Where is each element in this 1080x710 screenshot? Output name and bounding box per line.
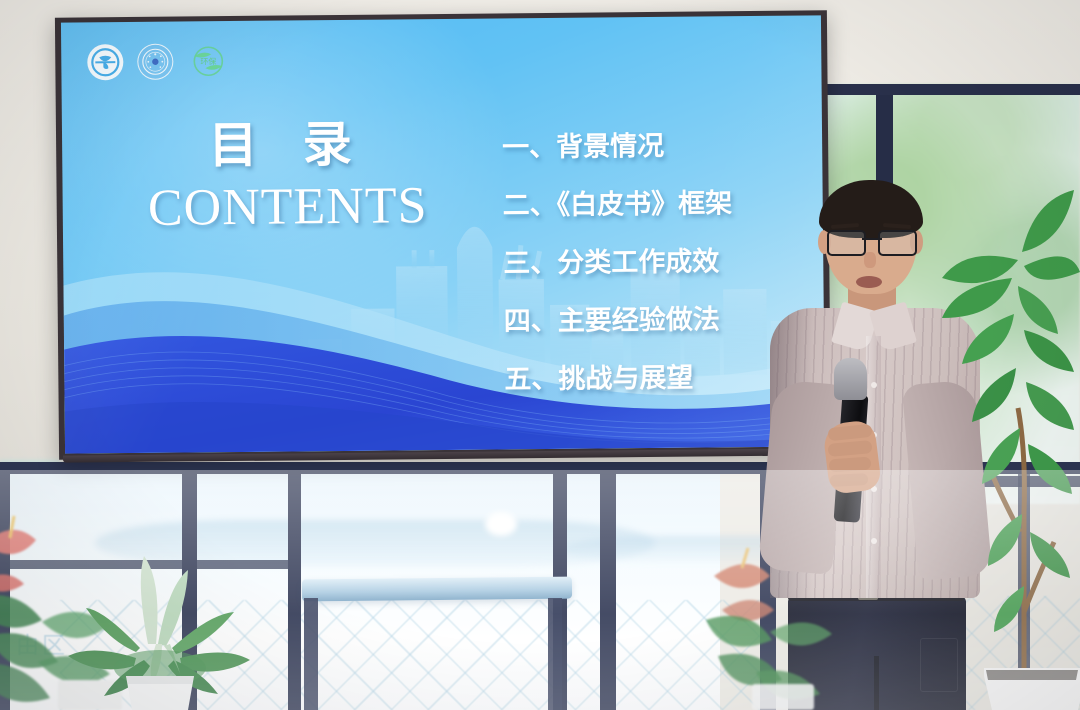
presenter-trouser-seam xyxy=(874,656,879,710)
glasses-bridge xyxy=(862,238,882,240)
slide-title-cn: 目 录 xyxy=(122,119,452,171)
window-frame-horizontal-right-top xyxy=(826,84,1080,95)
svg-text:环保: 环保 xyxy=(200,56,216,66)
sun-glare xyxy=(485,512,517,536)
presenter-mouth xyxy=(856,276,882,288)
sp-circular-logo: SP xyxy=(87,44,123,80)
ledge-leg-right xyxy=(548,598,562,710)
contents-item-4: 四、主要经验做法 xyxy=(504,306,734,335)
eco-green-logo: 环保 环保 xyxy=(187,44,229,78)
presenter-shirt-button-4 xyxy=(871,538,877,544)
contents-item-3: 三、分类工作成效 xyxy=(503,248,733,277)
wall-display[interactable]: SP ★ xyxy=(55,10,831,459)
window-frame-vertical-2 xyxy=(288,470,301,710)
contents-item-5: 五、挑战与展望 xyxy=(504,364,734,393)
window-ledge-shelf xyxy=(302,577,572,602)
presenter-glasses xyxy=(827,230,917,252)
contents-item-1: 一、背景情况 xyxy=(502,132,732,161)
dieffenbachia-plant-center-left xyxy=(60,548,260,710)
slide-title-block: 目 录 CONTENTS xyxy=(122,119,453,239)
government-seal-logo: ★ xyxy=(137,44,173,80)
contents-item-2: 二、《白皮书》框架 xyxy=(503,190,733,219)
anthurium-plant-center-right xyxy=(700,524,860,710)
presenter-finger-4 xyxy=(830,473,869,487)
screenshot-root: 由区 SP xyxy=(0,0,1080,710)
presenter-shirt-button-1 xyxy=(871,382,877,388)
slide-contents-list: 一、背景情况 二、《白皮书》框架 三、分类工作成效 四、主要经验做法 五、挑战与… xyxy=(502,132,734,424)
presenter-nose xyxy=(864,252,876,268)
glasses-lens-left xyxy=(827,230,866,256)
slide-title-en: CONTENTS xyxy=(122,176,453,239)
ledge-leg-left xyxy=(304,598,318,710)
bamboo-palm-right xyxy=(928,182,1080,710)
slide-logo-row: SP ★ xyxy=(87,43,229,80)
window-frame-vertical-4 xyxy=(600,470,616,710)
glasses-lens-right xyxy=(878,230,917,256)
microphone-head xyxy=(834,358,867,400)
presentation-slide: SP ★ xyxy=(61,15,825,453)
